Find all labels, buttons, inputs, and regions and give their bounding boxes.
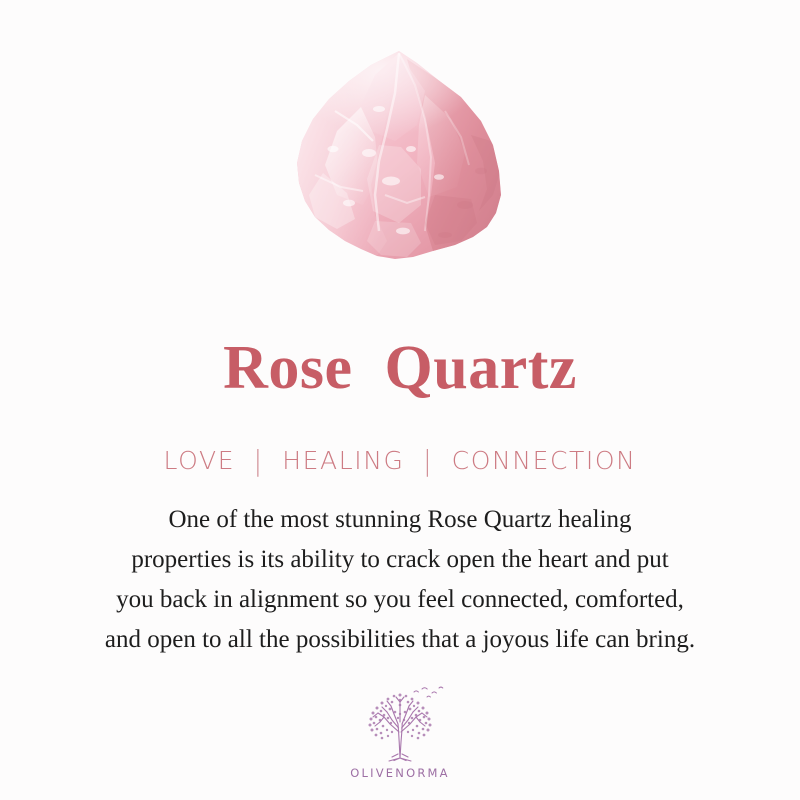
crystal-body [275, 45, 525, 285]
description-line: you back in alignment so you feel connec… [0, 580, 800, 620]
rose-quartz-crystal-icon [275, 45, 525, 285]
page-title: Rose Quartz [0, 336, 800, 401]
birds-icon [414, 687, 443, 697]
keyword-separator: | [423, 444, 433, 476]
keyword-healing: HEALING [282, 446, 404, 475]
description-line: properties is its ability to crack open … [0, 540, 800, 580]
keyword-tagline: LOVE | HEALING | CONNECTION [0, 446, 800, 475]
description-line: One of the most stunning Rose Quartz hea… [0, 500, 800, 540]
keyword-connection: CONNECTION [452, 446, 637, 475]
product-image-container [0, 0, 800, 310]
rose-quartz-info-card: Rose Quartz LOVE | HEALING | CONNECTION … [0, 0, 800, 800]
keyword-love: LOVE [164, 446, 236, 475]
description-line: and open to all the possibilities that a… [0, 620, 800, 660]
description-paragraph: One of the most stunning Rose Quartz hea… [0, 500, 800, 660]
keyword-separator: | [254, 444, 264, 476]
tree-of-life-icon [354, 684, 446, 762]
brand-name: OLIVENORMA [350, 766, 449, 780]
brand-logo: OLIVENORMA [0, 684, 800, 780]
